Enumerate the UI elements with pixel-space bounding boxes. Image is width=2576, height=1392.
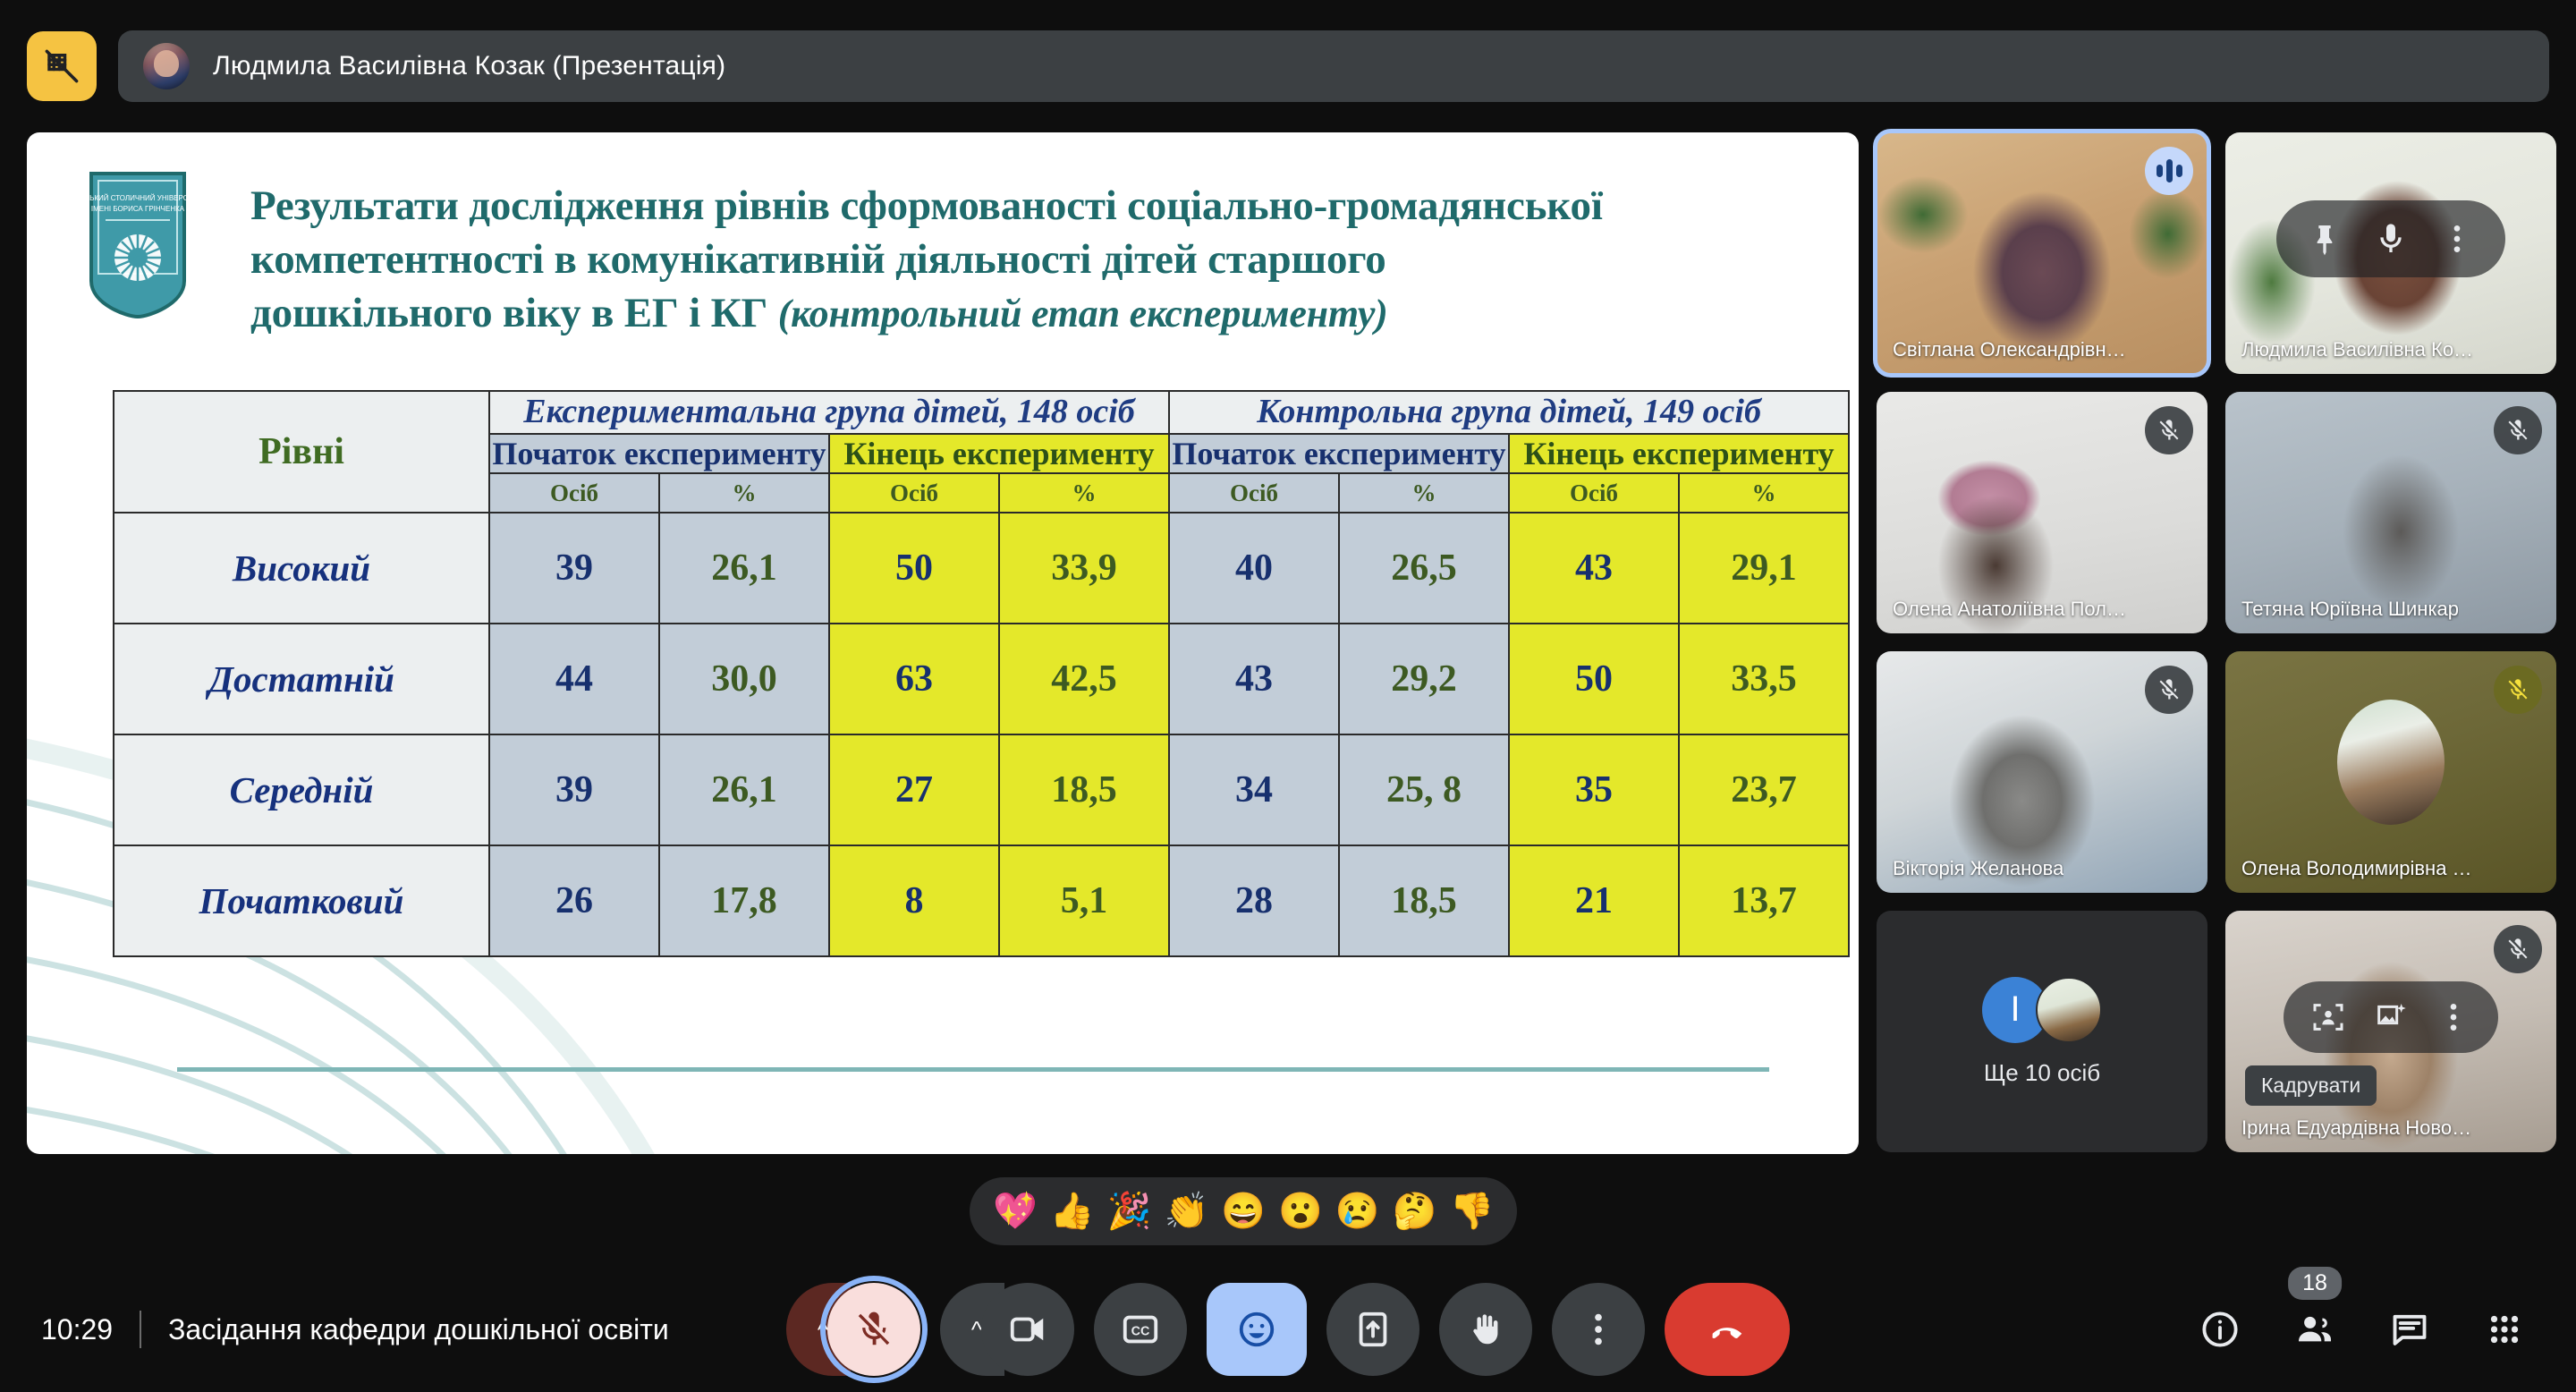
- mic-button[interactable]: [827, 1283, 920, 1376]
- cell-kg-start-p-0: 26,5: [1339, 513, 1509, 624]
- slide-title: Результати дослідження рівнів сформовано…: [250, 179, 1717, 340]
- mic-off-icon: [2145, 406, 2193, 454]
- unit-header-4: Осіб: [1169, 473, 1339, 513]
- cell-kg-end-p-0: 29,1: [1679, 513, 1849, 624]
- levels-header: Рівні: [114, 391, 489, 513]
- stage-header-eg-end: Кінець експерименту: [829, 434, 1169, 473]
- meeting-title: Засідання кафедри дошкільної освіти: [168, 1313, 669, 1346]
- reaction-clap[interactable]: 👏: [1164, 1193, 1208, 1229]
- svg-text:КИЇВСЬКИЙ СТОЛИЧНИЙ УНІВЕРСИТЕ: КИЇВСЬКИЙ СТОЛИЧНИЙ УНІВЕРСИТЕТ: [88, 194, 188, 202]
- pin-icon[interactable]: [2307, 221, 2343, 257]
- shared-screen-stage[interactable]: КИЇВСЬКИЙ СТОЛИЧНИЙ УНІВЕРСИТЕТ ІМЕНІ БО…: [27, 132, 1859, 1154]
- cell-eg-start-n-1: 44: [489, 624, 659, 734]
- participant-tile-0[interactable]: Світлана Олександрівн…: [1877, 132, 2207, 374]
- clock: 10:29: [41, 1313, 113, 1346]
- tile-hover-controls[interactable]: [2284, 981, 2498, 1053]
- participant-name: Світлана Олександрівн…: [1893, 338, 2126, 361]
- mic-off-icon: [2494, 666, 2542, 714]
- table-row: Середній 39 26,1 27 18,5 34 25, 8 35 23,…: [114, 734, 1849, 845]
- reaction-bar[interactable]: 💖 👍 🎉 👏 😄 😮 😢 🤔 👎: [970, 1177, 1517, 1245]
- participant-tile-1[interactable]: Людмила Василівна Ко…: [2225, 132, 2556, 374]
- stage-header-kg-start: Початок експерименту: [1169, 434, 1509, 473]
- call-controls: ^ ^ CC: [786, 1283, 1790, 1376]
- mic-off-icon: [2145, 666, 2193, 714]
- participant-tile-2[interactable]: Олена Анатоліївна Пол…: [1877, 392, 2207, 633]
- avatar: [143, 43, 190, 89]
- cell-eg-start-n-3: 26: [489, 845, 659, 956]
- unit-header-7: %: [1679, 473, 1849, 513]
- mic-control-group[interactable]: ^: [786, 1283, 920, 1376]
- reaction-surprised[interactable]: 😮: [1278, 1193, 1323, 1229]
- slide-title-line3: дошкільного віку в ЕГ і КГ: [250, 290, 767, 336]
- cell-kg-start-p-3: 18,5: [1339, 845, 1509, 956]
- visual-effects-icon[interactable]: [2373, 999, 2409, 1035]
- unit-header-0: Осіб: [489, 473, 659, 513]
- cell-kg-end-n-3: 21: [1509, 845, 1679, 956]
- framing-icon[interactable]: [2310, 999, 2346, 1035]
- more-options-button[interactable]: [1552, 1283, 1645, 1376]
- stage-header-kg-end: Кінець експерименту: [1509, 434, 1849, 473]
- tooltip-framing: Кадрувати: [2245, 1065, 2377, 1106]
- mic-off-icon: [2494, 925, 2542, 973]
- presentation-slide: КИЇВСЬКИЙ СТОЛИЧНИЙ УНІВЕРСИТЕТ ІМЕНІ БО…: [27, 132, 1859, 1154]
- cell-eg-end-p-2: 18,5: [999, 734, 1169, 845]
- table-row: Високий 39 26,1 50 33,9 40 26,5 43 29,1: [114, 513, 1849, 624]
- row-level-0: Високий: [114, 513, 489, 624]
- participant-grid: Світлана Олександрівн… Людмила Василівна…: [1877, 132, 2556, 1170]
- top-bar: Людмила Василівна Козак (Презентація): [0, 0, 2576, 132]
- cell-eg-end-p-3: 5,1: [999, 845, 1169, 956]
- screen-share-off-icon[interactable]: [27, 31, 97, 101]
- presenter-chip[interactable]: Людмила Василівна Козак (Презентація): [118, 30, 2549, 102]
- participant-name: Ірина Едуардівна Ново…: [2241, 1116, 2471, 1140]
- present-button[interactable]: [1326, 1283, 1419, 1376]
- cell-eg-end-n-2: 27: [829, 734, 999, 845]
- cell-kg-end-p-3: 13,7: [1679, 845, 1849, 956]
- svg-text:ІМЕНІ БОРИСА ГРІНЧЕНКА: ІМЕНІ БОРИСА ГРІНЧЕНКА: [91, 205, 185, 213]
- cell-kg-start-n-1: 43: [1169, 624, 1339, 734]
- cell-kg-start-n-2: 34: [1169, 734, 1339, 845]
- presenter-name: Людмила Василівна Козак (Презентація): [213, 51, 725, 81]
- slide-underline: [177, 1067, 1769, 1072]
- bottom-bar: 10:29 Засідання кафедри дошкільної освіт…: [0, 1267, 2576, 1392]
- divider: [140, 1311, 141, 1348]
- cell-eg-start-n-2: 39: [489, 734, 659, 845]
- cell-eg-start-p-2: 26,1: [659, 734, 829, 845]
- unit-header-2: Осіб: [829, 473, 999, 513]
- cell-kg-start-p-2: 25, 8: [1339, 734, 1509, 845]
- cell-eg-start-n-0: 39: [489, 513, 659, 624]
- raise-hand-button[interactable]: [1439, 1283, 1532, 1376]
- slide-title-line2: компетентності в комунікативній діяльнос…: [250, 233, 1717, 286]
- cell-kg-end-n-1: 50: [1509, 624, 1679, 734]
- participant-name: Тетяна Юріївна Шинкар: [2241, 598, 2459, 621]
- mic-icon[interactable]: [2373, 221, 2409, 257]
- cell-kg-start-n-3: 28: [1169, 845, 1339, 956]
- cell-eg-end-p-1: 42,5: [999, 624, 1169, 734]
- reaction-thumbs-down[interactable]: 👎: [1450, 1193, 1495, 1229]
- cell-kg-end-p-2: 23,7: [1679, 734, 1849, 845]
- more-vert-icon[interactable]: [2439, 221, 2475, 257]
- table-row: Достатній 44 30,0 63 42,5 43 29,2 50 33,…: [114, 624, 1849, 734]
- slide-title-line1: Результати дослідження рівнів сформовано…: [250, 179, 1717, 233]
- avatar: [2337, 700, 2445, 825]
- stage-header-eg-start: Початок експерименту: [489, 434, 829, 473]
- results-table: Рівні Експериментальна група дітей, 148 …: [113, 390, 1850, 957]
- participant-tile-3[interactable]: Тетяна Юріївна Шинкар: [2225, 392, 2556, 633]
- more-vert-icon[interactable]: [2436, 999, 2471, 1035]
- reaction-thumbs-up[interactable]: 👍: [1050, 1193, 1095, 1229]
- reaction-party[interactable]: 🎉: [1107, 1193, 1152, 1229]
- meeting-details-button[interactable]: [2193, 1303, 2247, 1356]
- cell-kg-start-p-1: 29,2: [1339, 624, 1509, 734]
- reaction-heart[interactable]: 💖: [993, 1193, 1038, 1229]
- row-level-2: Середній: [114, 734, 489, 845]
- cell-eg-end-n-3: 8: [829, 845, 999, 956]
- unit-header-1: %: [659, 473, 829, 513]
- tile-hover-controls[interactable]: [2276, 200, 2505, 277]
- cell-kg-start-n-0: 40: [1169, 513, 1339, 624]
- university-logo-icon: КИЇВСЬКИЙ СТОЛИЧНИЙ УНІВЕРСИТЕТ ІМЕНІ БО…: [88, 170, 188, 320]
- bottom-right-icons: 18: [2193, 1303, 2531, 1356]
- cell-eg-end-p-0: 33,9: [999, 513, 1169, 624]
- participant-name: Олена Володимирівна …: [2241, 857, 2472, 880]
- unit-header-3: %: [999, 473, 1169, 513]
- end-call-button[interactable]: [1665, 1283, 1790, 1376]
- cell-eg-start-p-0: 26,1: [659, 513, 829, 624]
- reaction-sad[interactable]: 😢: [1335, 1193, 1380, 1229]
- avatar: [2036, 977, 2102, 1043]
- participant-tile-5[interactable]: Олена Володимирівна …: [2225, 651, 2556, 893]
- cell-eg-start-p-1: 30,0: [659, 624, 829, 734]
- group-header-control: Контрольна група дітей, 149 осіб: [1169, 391, 1849, 434]
- group-header-experimental: Експериментальна група дітей, 148 осіб: [489, 391, 1169, 434]
- camera-control-group[interactable]: ^: [940, 1283, 1074, 1376]
- participant-name: Олена Анатоліївна Пол…: [1893, 598, 2126, 621]
- participant-tile-7[interactable]: Кадрувати Ірина Едуардівна Ново…: [2225, 911, 2556, 1152]
- unit-header-6: Осіб: [1509, 473, 1679, 513]
- table-row: Початковий 26 17,8 8 5,1 28 18,5 21 13,7: [114, 845, 1849, 956]
- people-button[interactable]: 18: [2288, 1303, 2342, 1356]
- row-level-3: Початковий: [114, 845, 489, 956]
- participant-name: Вікторія Желанова: [1893, 857, 2063, 880]
- svg-text:CC: CC: [1131, 1325, 1150, 1339]
- mic-off-icon: [2494, 406, 2542, 454]
- participant-tile-4[interactable]: Вікторія Желанова: [1877, 651, 2207, 893]
- audio-wave-icon: [2145, 147, 2193, 195]
- cell-kg-end-n-2: 35: [1509, 734, 1679, 845]
- cell-eg-end-n-0: 50: [829, 513, 999, 624]
- chat-button[interactable]: [2383, 1303, 2436, 1356]
- participant-count-badge: 18: [2288, 1267, 2342, 1300]
- unit-header-5: %: [1339, 473, 1509, 513]
- cell-eg-start-p-3: 17,8: [659, 845, 829, 956]
- table-header-row-groups: Рівні Експериментальна група дітей, 148 …: [114, 391, 1849, 434]
- reaction-laugh[interactable]: 😄: [1221, 1193, 1266, 1229]
- reaction-thinking[interactable]: 🤔: [1393, 1193, 1437, 1229]
- camera-button[interactable]: [981, 1283, 1074, 1376]
- activities-button[interactable]: [2478, 1303, 2531, 1356]
- more-participants-tile[interactable]: І Ще 10 осіб: [1877, 911, 2207, 1152]
- cell-kg-end-p-1: 33,5: [1679, 624, 1849, 734]
- slide-subtitle: (контрольний етап експерименту): [778, 292, 1388, 335]
- meeting-meta: 10:29 Засідання кафедри дошкільної освіт…: [0, 1311, 669, 1348]
- emoji-button[interactable]: [1207, 1283, 1307, 1376]
- overflow-avatars: І: [1982, 977, 2102, 1043]
- row-level-1: Достатній: [114, 624, 489, 734]
- participant-name: Людмила Василівна Ко…: [2241, 338, 2473, 361]
- captions-button[interactable]: CC: [1094, 1283, 1187, 1376]
- cell-eg-end-n-1: 63: [829, 624, 999, 734]
- more-participants-label: Ще 10 осіб: [1984, 1059, 2100, 1087]
- cell-kg-end-n-0: 43: [1509, 513, 1679, 624]
